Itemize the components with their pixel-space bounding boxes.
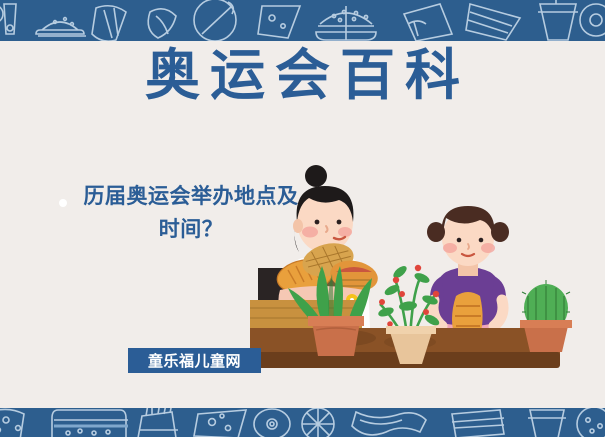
girl-with-pigtails-icon [427,206,509,343]
poster-card: 奥运会百科 历届奥运会举办地点及 时间？ [0,0,605,437]
food-line-art-pattern-icon [0,408,605,437]
bottom-decor-band [0,408,605,437]
food-line-art-pattern-icon [0,0,605,41]
cactus-in-pot-icon [520,280,572,352]
top-decor-band [0,0,605,41]
illustration [250,160,600,385]
page-title: 奥运会百科 [0,46,605,104]
site-badge: 童乐福儿童网 [128,348,261,373]
woman-and-girl-with-plants-at-table-icon [250,160,600,385]
